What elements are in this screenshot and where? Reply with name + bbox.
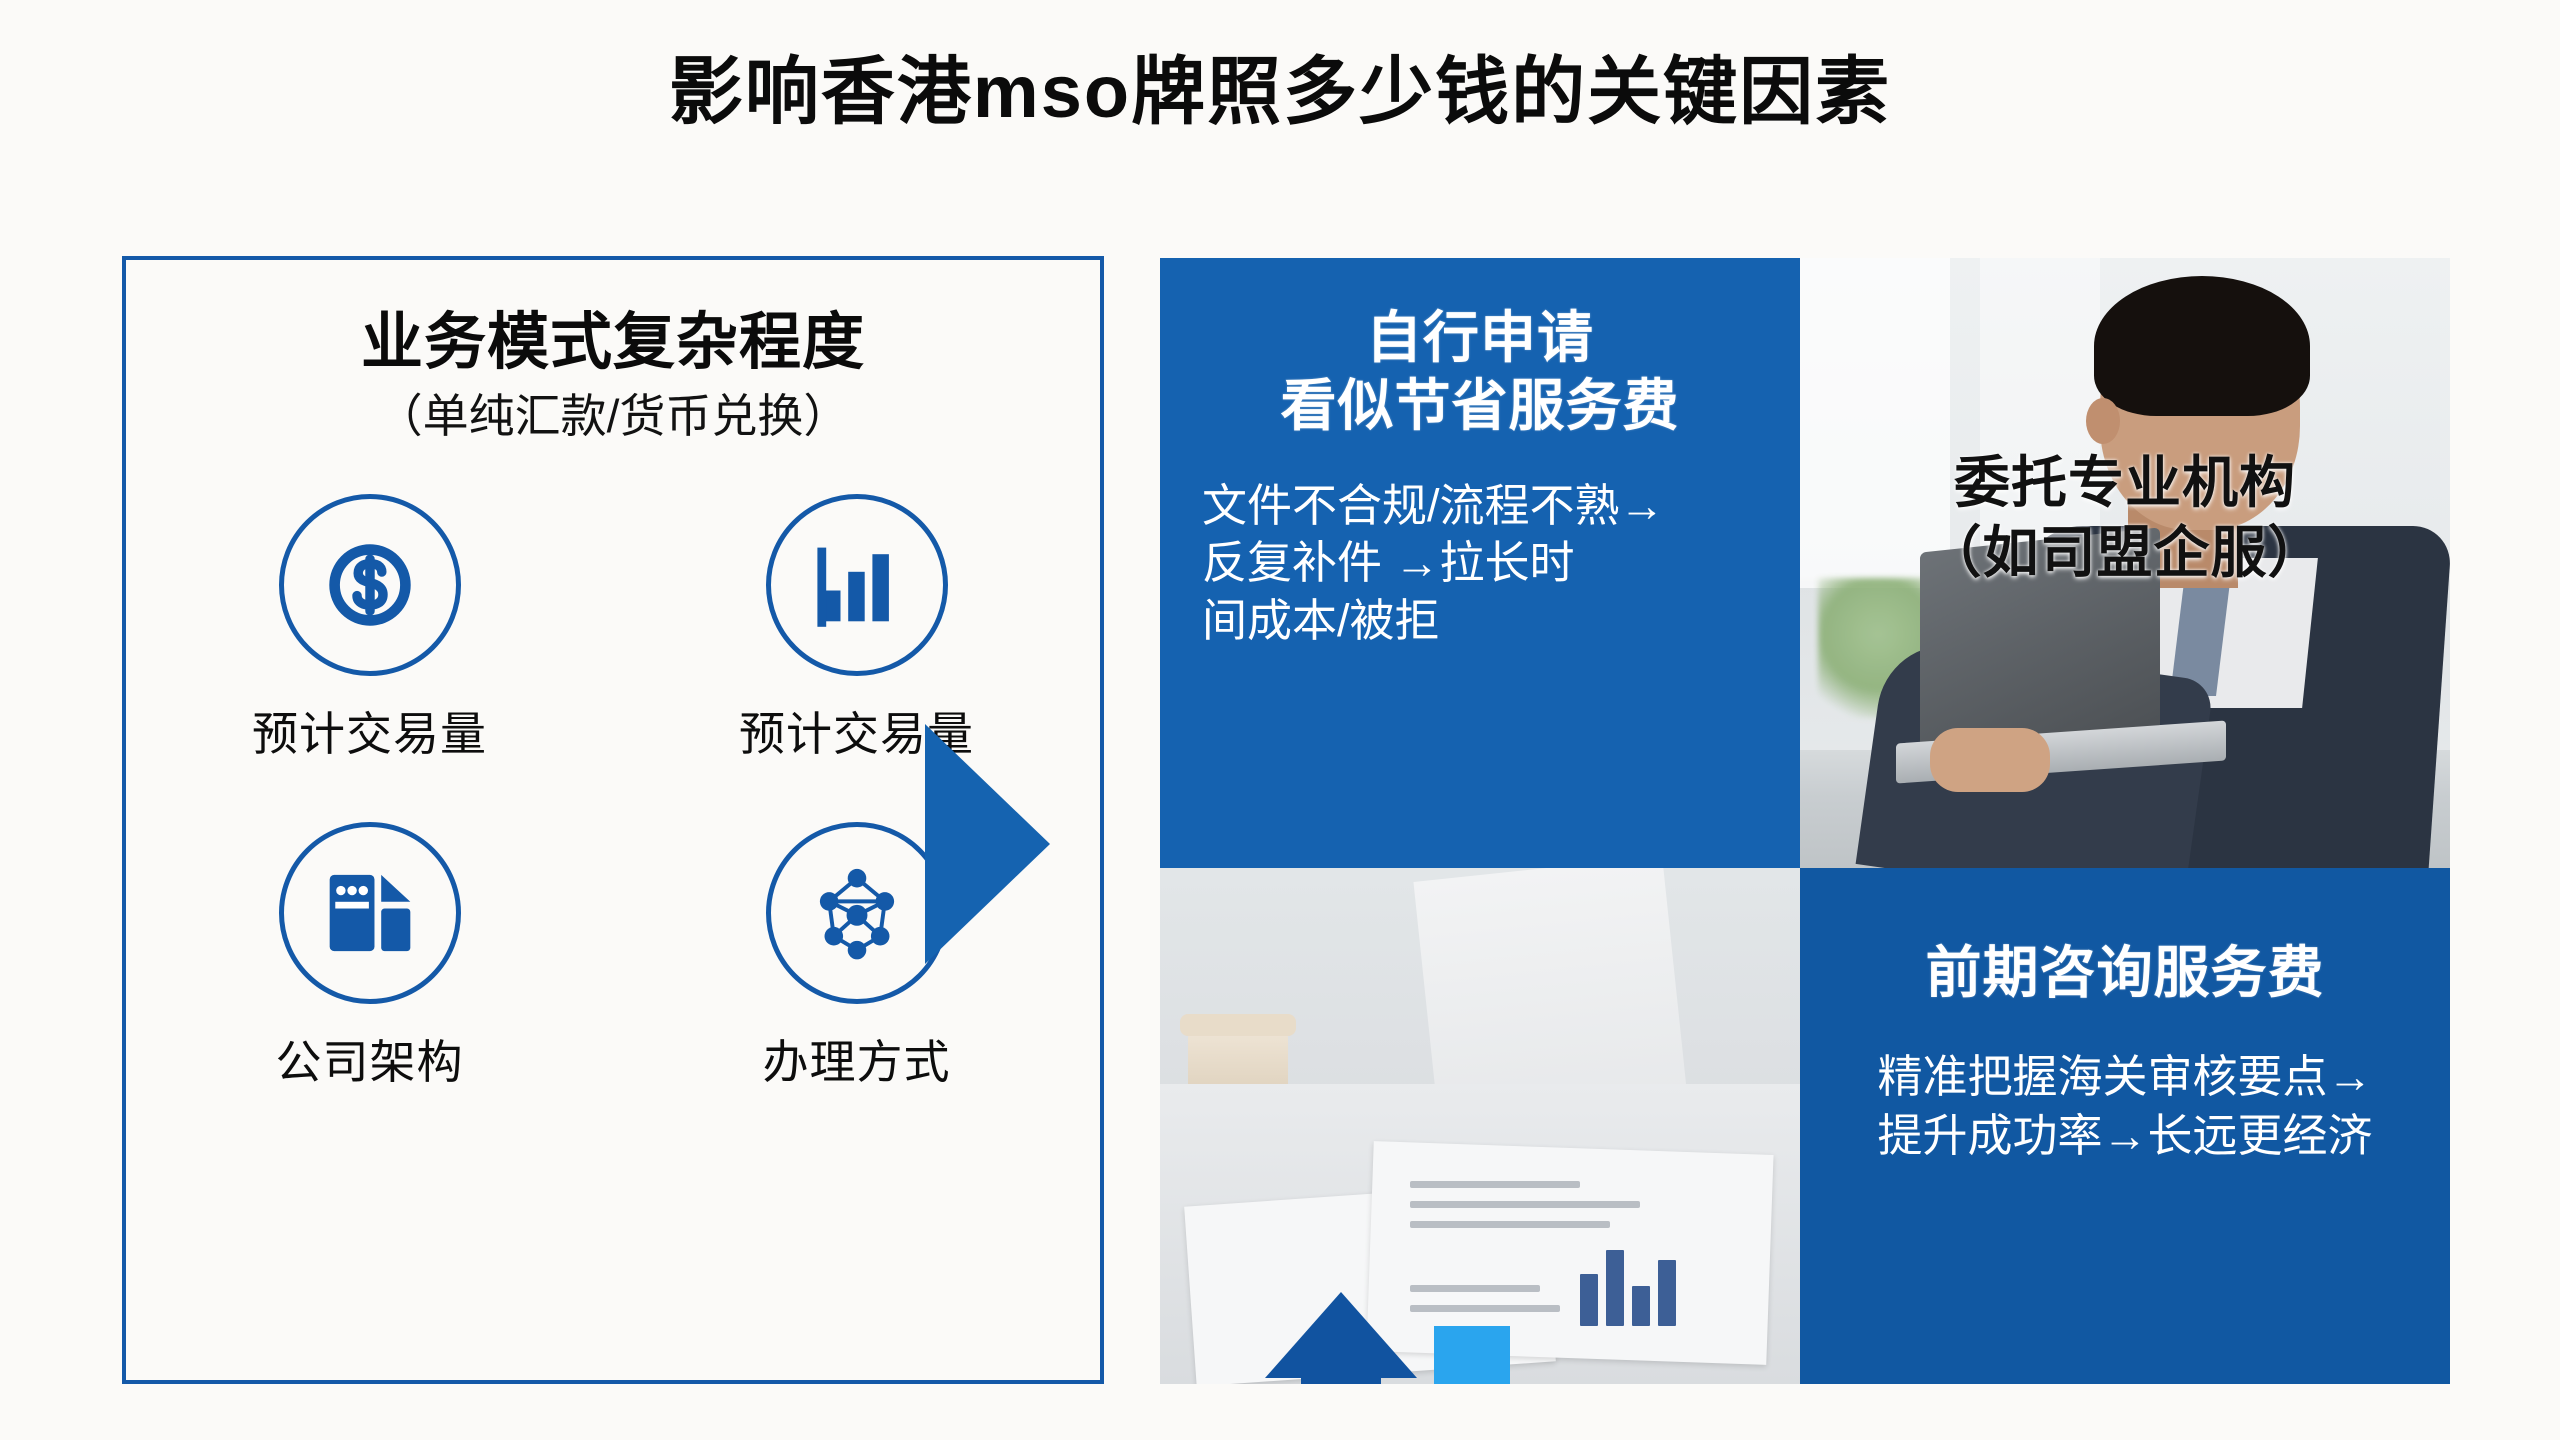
documents-photo-card[interactable]	[1160, 868, 1800, 1384]
self-apply-body: 文件不合规/流程不熟→ 反复补件 →拉长时 间成本/被拒	[1194, 477, 1766, 650]
factor-item-transaction-volume[interactable]: 预计交易量	[252, 494, 487, 764]
factors-subheading: （单纯汇款/货币兑换）	[126, 391, 1100, 442]
self-apply-body-line3: 间成本/被拒	[1202, 592, 1766, 650]
consulting-fee-body: 精准把握海关审核要点→ 提升成功率→长远更经济	[1832, 1047, 2418, 1166]
hands-reviewing-documents-photo	[1160, 868, 1800, 1384]
self-apply-card[interactable]: 自行申请 看似节省服务费 文件不合规/流程不熟→ 反复补件 →拉长时 间成本/被…	[1160, 258, 1800, 868]
professional-agency-title: 委托专业机构 （如司盟企服）	[1800, 448, 2450, 588]
factor-label: 办理方式	[763, 1026, 951, 1092]
bar-chart-icon	[766, 494, 948, 676]
page-title: 影响香港mso牌照多少钱的关键因素	[0, 32, 2560, 139]
factor-item-application-method[interactable]: 办理方式	[763, 822, 951, 1092]
factor-label: 预计交易量	[252, 698, 487, 764]
factors-heading: 业务模式复杂程度	[126, 308, 1100, 377]
factor-label: 公司架构	[276, 1026, 464, 1092]
dollar-circle-icon	[279, 494, 461, 676]
self-apply-body-line2: 反复补件 →拉长时	[1202, 534, 1766, 592]
network-nodes-icon	[766, 822, 948, 1004]
consulting-fee-card[interactable]: 前期咨询服务费 精准把握海关审核要点→ 提升成功率→长远更经济	[1800, 868, 2450, 1384]
self-apply-title: 自行申请 看似节省服务费	[1194, 304, 1766, 441]
self-apply-title-line2: 看似节省服务费	[1194, 372, 1766, 440]
self-apply-body-line1: 文件不合规/流程不熟→	[1202, 477, 1766, 535]
flow-arrow-icon	[925, 724, 1050, 964]
layout-document-icon	[279, 822, 461, 1004]
professional-agency-title-line2: （如司盟企服）	[1800, 518, 2450, 588]
consulting-fee-body-line1: 精准把握海关审核要点→	[1832, 1047, 2418, 1106]
consulting-fee-title: 前期咨询服务费	[1832, 928, 2418, 1009]
consulting-fee-body-line2: 提升成功率→长远更经济	[1832, 1106, 2418, 1165]
professional-agency-title-line1: 委托专业机构	[1800, 448, 2450, 518]
comparison-grid: 自行申请 看似节省服务费 文件不合规/流程不熟→ 反复补件 →拉长时 间成本/被…	[1160, 258, 2450, 1384]
self-apply-title-line1: 自行申请	[1194, 304, 1766, 372]
professional-agency-card[interactable]: 委托专业机构 （如司盟企服）	[1800, 258, 2450, 868]
factor-item-company-structure[interactable]: 公司架构	[276, 822, 464, 1092]
